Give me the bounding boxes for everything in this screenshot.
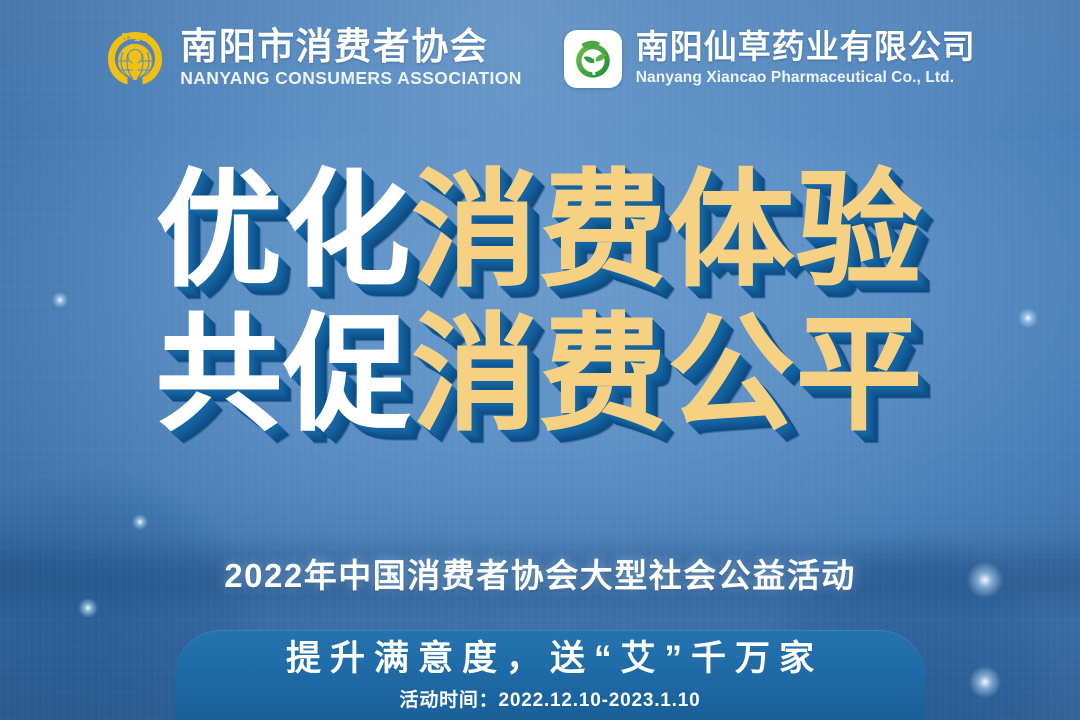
promotional-poster: 3·15 南阳市消费者协会 NANYANG CONSUMERS ASSOCIAT… bbox=[0, 0, 1080, 720]
association-name-cn: 南阳市消费者协会 bbox=[180, 28, 522, 66]
headline-line2-segment-gold: 消费公平 bbox=[412, 312, 924, 438]
sparkle-dot bbox=[78, 598, 97, 617]
logo-xiancao-pharma-text: 南阳仙草药业有限公司 Nanyang Xiancao Pharmaceutica… bbox=[636, 30, 976, 87]
sparkle-dot bbox=[132, 514, 148, 530]
banner-slogan: 提升满意度，送“艾”千万家 bbox=[277, 639, 823, 678]
logo-consumers-association-text: 南阳市消费者协会 NANYANG CONSUMERS ASSOCIATION bbox=[180, 28, 522, 90]
banner-activity-period: 活动时间：2022.12.10-2023.1.10 bbox=[400, 685, 701, 712]
logo-xiancao-pharma: 南阳仙草药业有限公司 Nanyang Xiancao Pharmaceutica… bbox=[564, 30, 976, 88]
company-name-cn: 南阳仙草药业有限公司 bbox=[636, 30, 976, 65]
headline-line1-segment-gold: 消费体验 bbox=[412, 168, 924, 294]
headline-line-2: 共促 消费公平 bbox=[156, 312, 924, 438]
logo-consumers-association: 3·15 南阳市消费者协会 NANYANG CONSUMERS ASSOCIAT… bbox=[104, 28, 522, 90]
headline: 优化 消费体验 共促 消费公平 bbox=[0, 168, 1080, 438]
315-consumer-rights-globe-icon: 3·15 bbox=[104, 28, 166, 90]
headline-line2-segment-white: 共促 bbox=[156, 312, 412, 438]
svg-text:3·15: 3·15 bbox=[121, 32, 149, 44]
sparkle-dot bbox=[969, 666, 1001, 698]
headline-line-1: 优化 消费体验 bbox=[156, 168, 924, 294]
subtitle: 2022年中国消费者协会大型社会公益活动 bbox=[0, 549, 1080, 597]
headline-line1-segment-white: 优化 bbox=[156, 168, 412, 294]
association-name-en: NANYANG CONSUMERS ASSOCIATION bbox=[180, 68, 522, 90]
header-logo-row: 3·15 南阳市消费者协会 NANYANG CONSUMERS ASSOCIAT… bbox=[0, 28, 1080, 90]
bottom-banner: 提升满意度，送“艾”千万家 活动时间：2022.12.10-2023.1.10 bbox=[175, 630, 925, 720]
company-name-en: Nanyang Xiancao Pharmaceutical Co., Ltd. bbox=[636, 68, 976, 87]
green-leaf-pharma-icon bbox=[564, 30, 622, 88]
